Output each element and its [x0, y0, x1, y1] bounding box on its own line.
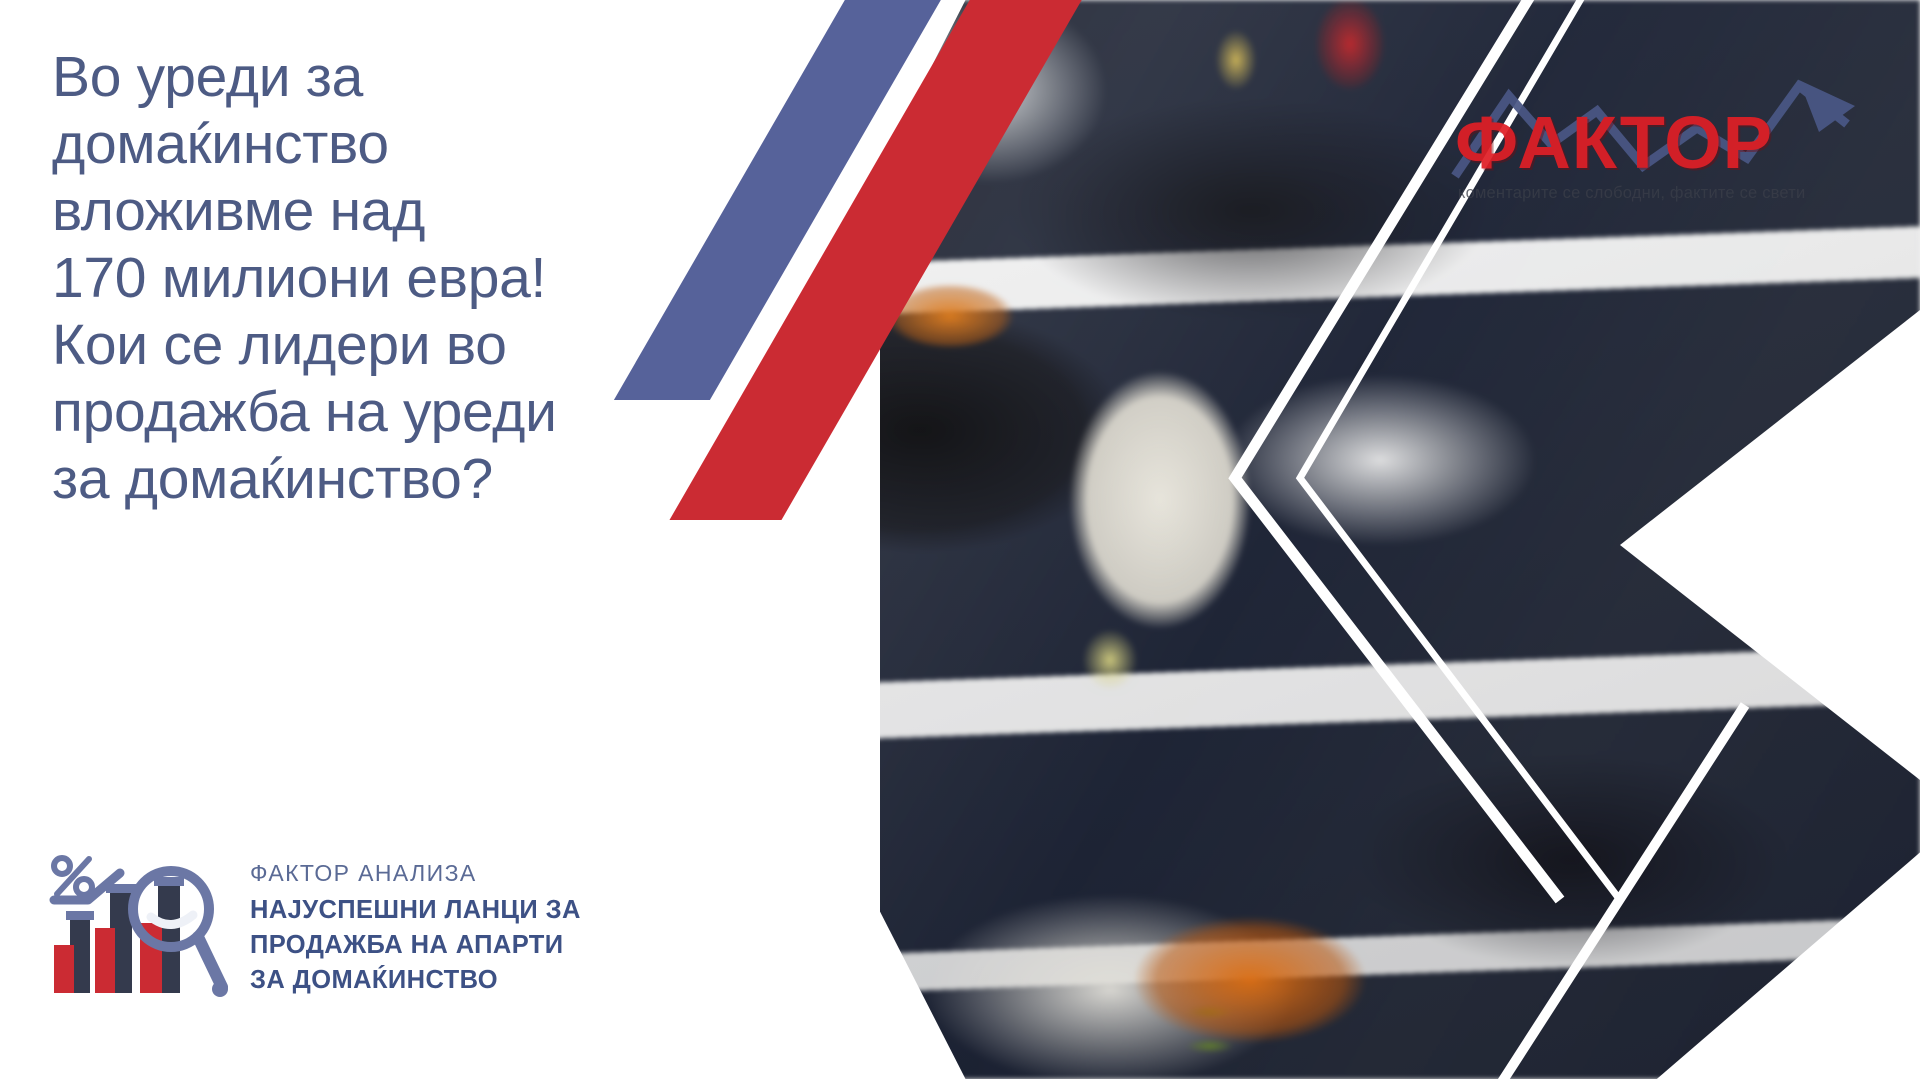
footer-text-group: ФАКТОР АНАЛИЗА НАЈУСПЕШНИ ЛАНЦИ ЗА ПРОДА… — [250, 845, 581, 998]
footer-title: НАЈУСПЕШНИ ЛАНЦИ ЗА ПРОДАЖБА НА АПАРТИ З… — [250, 893, 581, 999]
left-content-panel: Во уреди за домаќинство вложивме над 170… — [0, 0, 880, 1079]
faktor-wordmark: ФАКТОР — [1455, 106, 1865, 180]
footer-kicker: ФАКТОР АНАЛИЗА — [250, 859, 581, 889]
analysis-bar-chart-magnifier-icon — [48, 853, 228, 1003]
faktor-tagline: коментарите се слободни, фактите се свет… — [1458, 184, 1868, 203]
page-headline: Во уреди за домаќинство вложивме над 170… — [52, 44, 772, 513]
bar-chart-icon — [54, 877, 184, 993]
footer-branding-block: ФАКТОР АНАЛИЗА НАЈУСПЕШНИ ЛАНЦИ ЗА ПРОДА… — [48, 845, 748, 1035]
faktor-logo: ФАКТОР коментарите се слободни, фактите … — [1455, 72, 1865, 222]
percent-symbol-icon — [54, 858, 92, 895]
